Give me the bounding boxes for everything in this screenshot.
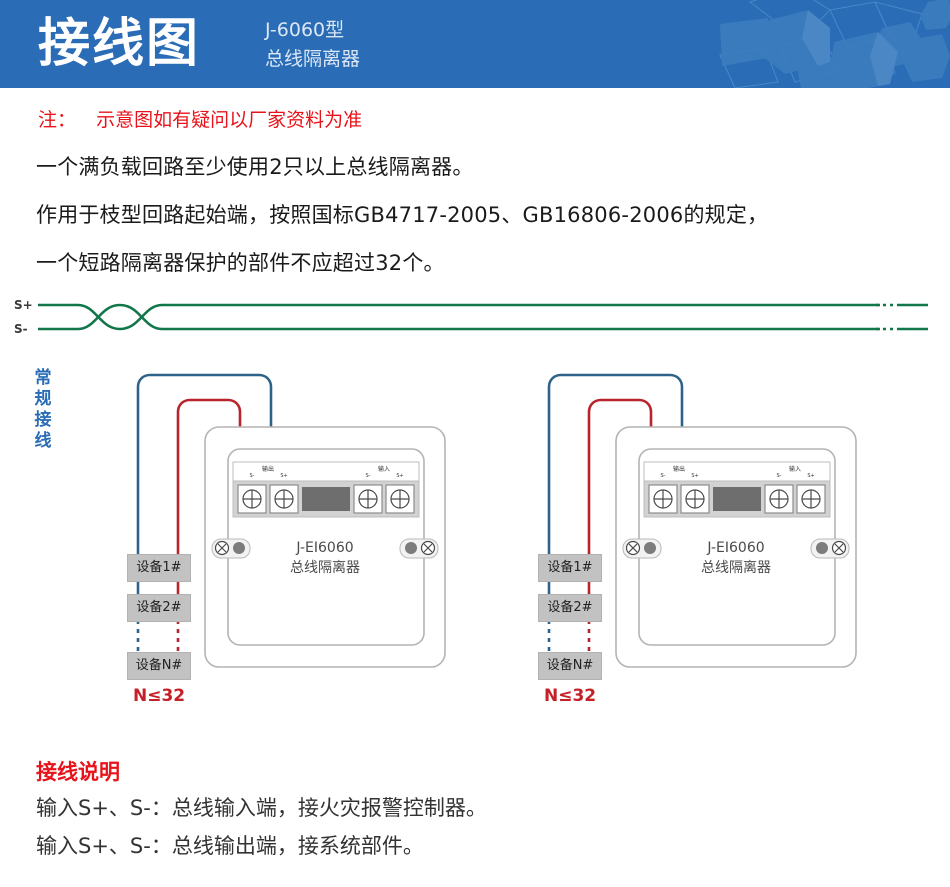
module-group-left — [138, 375, 445, 667]
terminal-polarity-left-2: S+ — [274, 473, 294, 479]
bus-lines-tail — [900, 305, 928, 329]
mount-tab-left-east — [400, 539, 438, 558]
note-label: 注： — [38, 109, 76, 131]
banner-decoration — [530, 0, 950, 88]
page-title: 接线图 — [38, 10, 200, 78]
terminal-polarity-right-4: S+ — [801, 473, 821, 479]
module-model-name-right: 总线隔离器 — [661, 558, 811, 578]
terminal-output-label-right: 输出 — [659, 464, 699, 473]
device-limit-left: N≤32 — [133, 686, 185, 706]
body-paragraph-2: 作用于枝型回路起始端，按照国标GB4717-2005、GB16806-2006的… — [36, 199, 768, 229]
footer-line-1: 输入S+、S-：总线输入端，接火灾报警控制器。 — [36, 792, 487, 822]
module-model-right: J-EI6060 总线隔离器 — [661, 538, 811, 578]
terminal-polarity-right-1: S- — [653, 473, 673, 479]
wiring-diagram: S+ S- 常规接线 — [0, 286, 950, 726]
device-limit-right: N≤32 — [544, 686, 596, 706]
terminal-polarity-left-3: S- — [358, 473, 378, 479]
terminal-polarity-right-3: S- — [769, 473, 789, 479]
terminal-polarity-right-2: S+ — [685, 473, 705, 479]
mount-tab-left-west — [212, 539, 250, 558]
terminal-output-label-left: 输出 — [248, 464, 288, 473]
header-subtitle: J-6060型 总线隔离器 — [265, 16, 360, 74]
terminal-polarity-left-1: S- — [242, 473, 262, 479]
module-model-code-left: J-EI6060 — [250, 538, 400, 558]
note-text: 示意图如有疑问以厂家资料为准 — [96, 109, 362, 131]
device-box-left-2: 设备2# — [127, 594, 191, 622]
terminal-input-label-right: 输入 — [775, 464, 815, 473]
device-box-left-3: 设备N# — [127, 652, 191, 680]
mount-tab-right-east — [811, 539, 849, 558]
device-box-right-1: 设备1# — [538, 554, 602, 582]
module-model-code-right: J-EI6060 — [661, 538, 811, 558]
body-paragraph-3: 一个短路隔离器保护的部件不应超过32个。 — [36, 247, 445, 277]
note-row: 注： 示意图如有疑问以厂家资料为准 — [38, 105, 362, 132]
device-box-left-1: 设备1# — [127, 554, 191, 582]
device-box-right-2: 设备2# — [538, 594, 602, 622]
module-model-name-left: 总线隔离器 — [250, 558, 400, 578]
bus-lines — [38, 305, 880, 329]
bus-line-break-dots — [876, 305, 900, 329]
footer-line-2: 输入S+、S-：总线输出端，接系统部件。 — [36, 830, 424, 860]
header-banner: 接线图 J-6060型 总线隔离器 — [0, 0, 950, 88]
footer-heading: 接线说明 — [36, 756, 120, 786]
device-box-right-3: 设备N# — [538, 652, 602, 680]
subtitle-model: J-6060型 — [265, 16, 360, 45]
subtitle-product: 总线隔离器 — [265, 45, 360, 74]
module-model-left: J-EI6060 总线隔离器 — [250, 538, 400, 578]
module-group-right — [549, 375, 856, 667]
terminal-input-label-left: 输入 — [364, 464, 404, 473]
mount-tab-right-west — [623, 539, 661, 558]
body-paragraph-1: 一个满负载回路至少使用2只以上总线隔离器。 — [36, 151, 474, 181]
terminal-polarity-left-4: S+ — [390, 473, 410, 479]
